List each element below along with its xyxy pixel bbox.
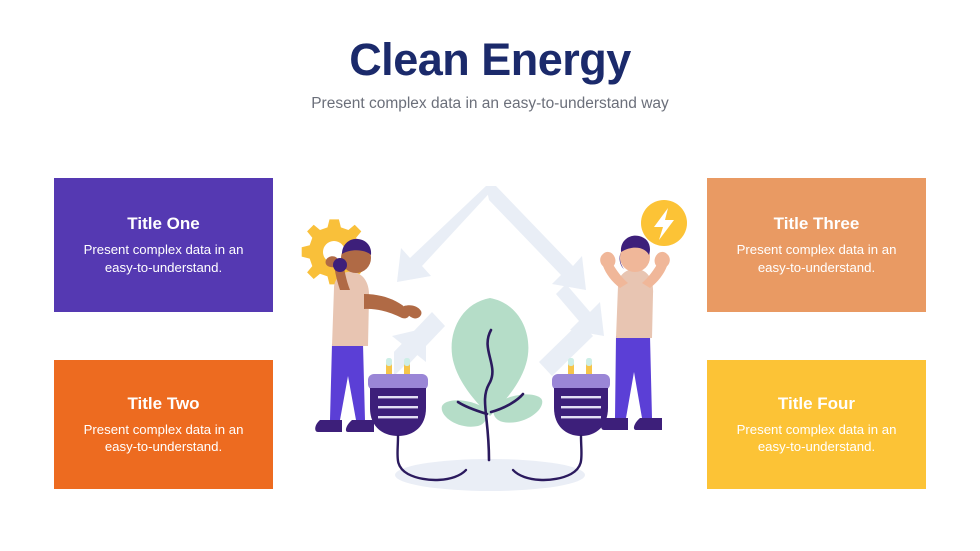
card-two-body: Present complex data in an easy-to-under… — [66, 421, 261, 456]
card-title-three[interactable]: Title Three Present complex data in an e… — [707, 178, 926, 312]
card-one-title: Title One — [127, 214, 199, 234]
card-one-body: Present complex data in an easy-to-under… — [66, 241, 261, 276]
slide-header: Clean Energy Present complex data in an … — [0, 36, 980, 113]
card-four-title: Title Four — [778, 394, 855, 414]
ground-shadow — [395, 459, 585, 491]
card-title-one[interactable]: Title One Present complex data in an eas… — [54, 178, 273, 312]
green-plant-icon — [442, 298, 543, 460]
person-right-with-bolt — [600, 200, 687, 430]
card-two-title: Title Two — [127, 394, 199, 414]
card-three-body: Present complex data in an easy-to-under… — [719, 241, 914, 276]
card-three-title: Title Three — [774, 214, 860, 234]
page-subtitle: Present complex data in an easy-to-under… — [0, 95, 980, 113]
lightning-bolt-icon — [641, 200, 687, 246]
card-title-two[interactable]: Title Two Present complex data in an eas… — [54, 360, 273, 489]
page-title: Clean Energy — [0, 36, 980, 83]
slide-canvas: Clean Energy Present complex data in an … — [0, 0, 980, 551]
clean-energy-illustration — [290, 170, 690, 500]
card-four-body: Present complex data in an easy-to-under… — [719, 421, 914, 456]
card-title-four[interactable]: Title Four Present complex data in an ea… — [707, 360, 926, 489]
